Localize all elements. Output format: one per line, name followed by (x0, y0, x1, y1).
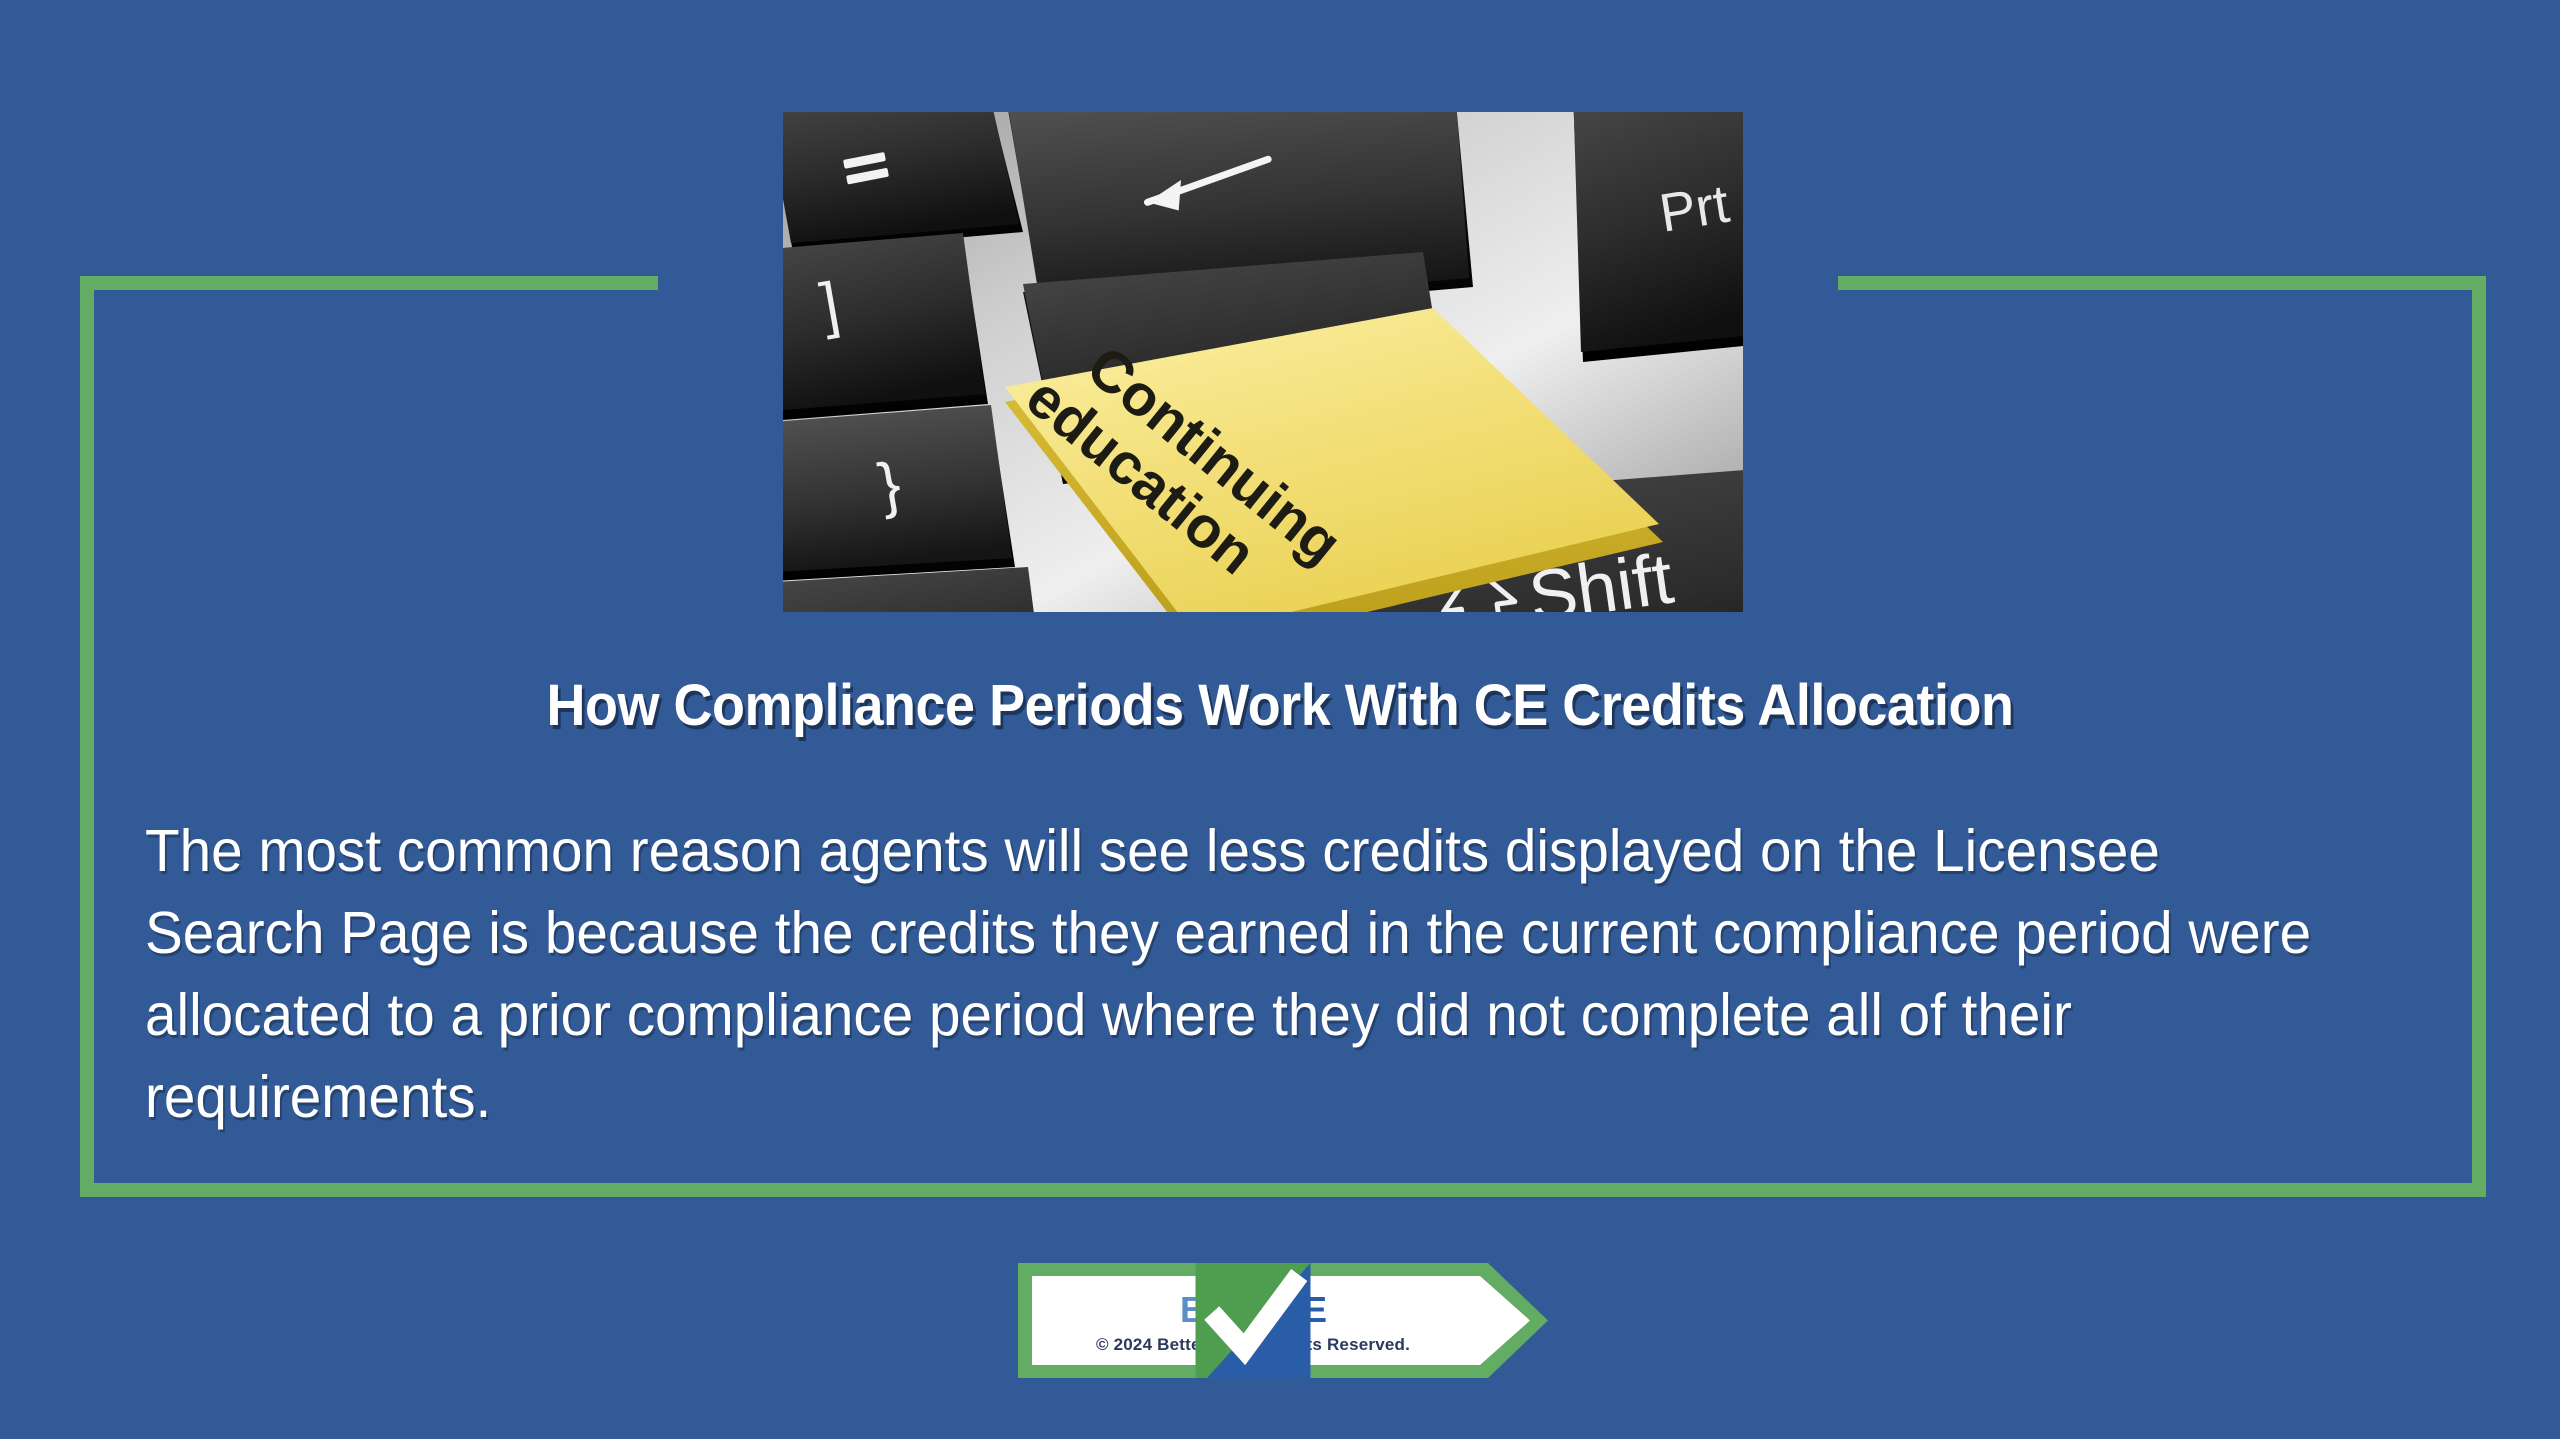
keyboard-hero-image: Prt ] } (783, 112, 1743, 612)
footer-logo-badge: BetterCE © 2024 BetterCE, All Rights Res… (1018, 1263, 1548, 1378)
frame-border-top-left (80, 276, 658, 290)
badge-content: BetterCE © 2024 BetterCE, All Rights Res… (1018, 1263, 1488, 1378)
svg-text:Prt: Prt (1655, 174, 1733, 244)
key-brace-right: } (783, 405, 1015, 582)
bettterce-logo-mark-icon (1018, 1263, 1488, 1378)
brand-row: BetterCE (1180, 1287, 1326, 1333)
key-bracket-right: ] (783, 233, 988, 422)
infographic-card: Prt ] } (0, 0, 2560, 1439)
page-title: How Compliance Periods Work With CE Cred… (90, 672, 2471, 739)
frame-border-bottom (80, 1183, 2486, 1197)
key-print-screen: Prt (1573, 112, 1743, 362)
keyboard-illustration: Prt ] } (783, 112, 1743, 612)
frame-border-right (2472, 276, 2486, 1197)
key-equals (783, 112, 1023, 252)
body-paragraph: The most common reason agents will see l… (145, 810, 2334, 1138)
frame-border-top-right (1838, 276, 2486, 290)
